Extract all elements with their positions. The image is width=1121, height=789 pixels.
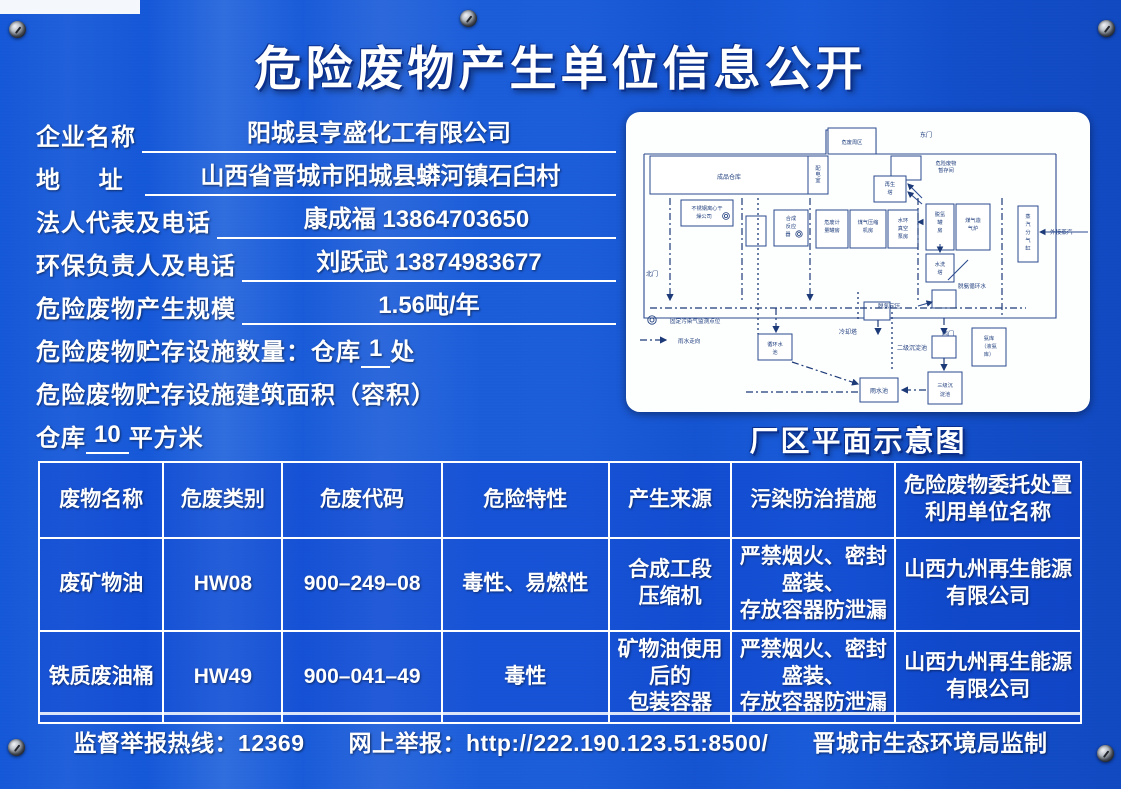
diagram-box-label: 煤气压缩	[858, 218, 879, 226]
diagram-box-label: 配	[815, 165, 821, 172]
diagram-box-label: 量罐房	[824, 226, 840, 234]
diagram-box-label: 成品仓库	[717, 173, 741, 181]
info-value: 山西省晋城市阳城县蟒河镇石臼村	[145, 162, 616, 196]
table-row: 废矿物油 HW08 900–249–08 毒性、易燃性 合成工段压缩机 严禁烟火…	[39, 538, 1081, 631]
cell-hazard: 毒性	[442, 631, 609, 724]
info-row-company: 企业名称 阳城县亨盛化工有限公司	[36, 110, 616, 153]
cell-source: 矿物油使用后的包装容器	[609, 631, 732, 724]
footer-hotline: 监督举报热线：12369	[74, 724, 305, 758]
info-label: 环保负责人及电话	[36, 252, 236, 282]
info-value: 1.56吨/年	[242, 291, 616, 325]
diagram-box-label: 合成	[786, 214, 796, 222]
cell-code: 900–041–49	[282, 631, 442, 724]
diagram-box-label: 塔	[887, 188, 893, 196]
diagram-box-label: 二级沉淀池	[897, 344, 927, 352]
cell-name: 铁质废油桶	[39, 631, 163, 724]
diagram-box-label: 库）	[984, 350, 994, 358]
diagram-box-label: 泵房	[898, 232, 908, 240]
diagram-box-label: 气	[1025, 236, 1030, 244]
diagram-box-label: 淀池	[940, 390, 950, 398]
col-header-hazard: 危险特性	[442, 462, 609, 538]
info-value: 刘跃武 13874983677	[242, 248, 616, 282]
storage-area-label: 危险废物贮存设施建筑面积（容积）	[36, 381, 436, 411]
diagram-box-label: 雨水池	[870, 387, 888, 395]
footer-online-report: 网上举报：http://222.190.123.51:8500/	[349, 724, 769, 758]
plant-layout-diagram: .bx{fill:#ffffff;stroke:#2a4a8f;stroke-w…	[626, 112, 1090, 412]
cell-entrusted: 山西九州再生能源有限公司	[895, 631, 1081, 724]
info-row-legal-rep: 法人代表及电话 康成福 13864703650	[36, 196, 616, 239]
col-header-measures: 污染防治措施	[731, 462, 895, 538]
diagram-box-label: 不锈钢离心干	[691, 204, 722, 212]
diagram-gate-label: 东门	[920, 131, 932, 139]
diagram-box-label: 器	[785, 231, 791, 238]
legend-label: 固定污染气监测点位	[670, 317, 721, 325]
diagram-box-label: 燥公司	[696, 212, 712, 220]
info-row-address: 地 址 山西省晋城市阳城县蟒河镇石臼村	[36, 153, 616, 196]
diagram-box-label: 脱氢	[935, 210, 945, 218]
diagram-box-label: 室	[815, 176, 820, 184]
cell-category: HW08	[163, 538, 282, 631]
col-header-entrusted: 危险废物委托处置利用单位名称	[895, 462, 1081, 538]
cell-measures: 严禁烟火、密封盛装、存放容器防泄漏	[731, 631, 895, 724]
diagram-box-label: 蒸	[1025, 212, 1030, 220]
table-header-row: 废物名称 危废类别 危废代码 危险特性 产生来源 污染防治措施 危险废物委托处置…	[39, 462, 1081, 538]
info-label: 企业名称	[36, 123, 136, 153]
col-header-category: 危废类别	[163, 462, 282, 538]
information-board: 危险废物产生单位信息公开 企业名称 阳城县亨盛化工有限公司 地 址 山西省晋城市…	[0, 0, 1121, 789]
diagram-box-label: 机房	[863, 226, 873, 234]
col-header-code: 危废代码	[282, 462, 442, 538]
diagram-box-label: 池	[772, 348, 777, 356]
diagram-box-label: 煤气造	[965, 216, 981, 224]
diagram-box-label: 危险废物	[936, 159, 957, 167]
info-value: 阳城县亨盛化工有限公司	[142, 119, 616, 153]
cell-name: 废矿物油	[39, 538, 163, 631]
page-title: 危险废物产生单位信息公开	[0, 30, 1121, 99]
info-row-env-officer: 环保负责人及电话 刘跃武 13874983677	[36, 239, 616, 282]
footer-divider	[40, 712, 1080, 715]
diagram-box-label: 气炉	[968, 224, 978, 232]
storage-count-label: 危险废物贮存设施数量：仓库	[36, 338, 361, 368]
storage-area-prefix: 仓库	[36, 424, 86, 454]
info-label: 法人代表及电话	[36, 209, 211, 239]
cell-hazard: 毒性、易燃性	[442, 538, 609, 631]
diagram-box-label: 真空	[898, 224, 908, 232]
diagram-box-label: 暂存间	[938, 166, 954, 174]
info-label: 危险废物产生规模	[36, 295, 236, 325]
hazardous-waste-table: 废物名称 危废类别 危废代码 危险特性 产生来源 污染防治措施 危险废物委托处置…	[38, 461, 1082, 724]
diagram-box-label: 反应	[786, 222, 796, 230]
footer-issuer: 晋城市生态环境局监制	[812, 724, 1047, 758]
storage-area-unit: 平方米	[129, 424, 204, 454]
info-row-area-value: 仓库 10 平方米	[36, 411, 616, 454]
diagram-box-label: 危废计	[824, 218, 840, 226]
company-info-block: 企业名称 阳城县亨盛化工有限公司 地 址 山西省晋城市阳城县蟒河镇石臼村 法人代…	[36, 110, 616, 454]
diagram-annotation: 脱氨循环水	[958, 282, 986, 290]
diagram-box-label: （液氨	[981, 342, 997, 350]
storage-count-value: 1	[361, 334, 390, 368]
diagram-caption: 厂区平面示意图	[626, 418, 1090, 460]
diagram-box-label: 危废周区	[842, 138, 863, 146]
cell-code: 900–249–08	[282, 538, 442, 631]
col-header-source: 产生来源	[609, 462, 732, 538]
col-header-name: 废物名称	[39, 462, 163, 538]
cell-measures: 严禁烟火、密封盛装、存放容器防泄漏	[731, 538, 895, 631]
cell-category: HW49	[163, 631, 282, 724]
diagram-box-label: 水环	[898, 216, 908, 224]
diagram-box-label: 房	[937, 226, 942, 234]
diagram-box-label: 氨库	[984, 334, 994, 342]
diagram-box-label: 汽	[1025, 220, 1031, 228]
diagram-box-label: 塔	[937, 268, 943, 276]
footer-bar: 监督举报热线：12369 网上举报：http://222.190.123.51:…	[0, 724, 1121, 758]
diagram-box-label: 电	[815, 170, 820, 178]
cell-entrusted: 山西九州再生能源有限公司	[895, 538, 1081, 631]
diagram-box-label: 缸	[1025, 244, 1030, 252]
diagram-box-label: 三级沉	[937, 381, 953, 389]
diagram-box-label: 罐	[937, 218, 942, 226]
diagram-box-label: 冷却塔	[839, 328, 857, 336]
info-row-storage-count: 危险废物贮存设施数量：仓库 1 处	[36, 325, 616, 368]
legend-monitor-icon	[648, 316, 656, 324]
info-row-scale: 危险废物产生规模 1.56吨/年	[36, 282, 616, 325]
storage-area-value: 10	[86, 420, 129, 454]
diagram-box-label: 水洗	[935, 260, 946, 268]
cell-source: 合成工段压缩机	[609, 538, 732, 631]
diagram-box-label: 再生	[885, 180, 895, 188]
storage-count-unit: 处	[390, 338, 415, 368]
table-row: 铁质废油桶 HW49 900–041–49 毒性 矿物油使用后的包装容器 严禁烟…	[39, 631, 1081, 724]
diagram-gate-label: 北门	[646, 270, 658, 278]
info-label: 地 址	[36, 166, 139, 196]
screw-icon	[460, 10, 477, 27]
diagram-box-label: 循环水	[767, 340, 783, 348]
diagram-box-label: 分	[1025, 228, 1030, 236]
legend-label: 雨水走向	[678, 337, 701, 345]
info-row-area-label: 危险废物贮存设施建筑面积（容积）	[36, 368, 616, 411]
diagram-annotation: 脱氢定压	[878, 302, 901, 310]
top-white-strip	[0, 0, 140, 14]
info-value: 康成福 13864703650	[217, 205, 616, 239]
